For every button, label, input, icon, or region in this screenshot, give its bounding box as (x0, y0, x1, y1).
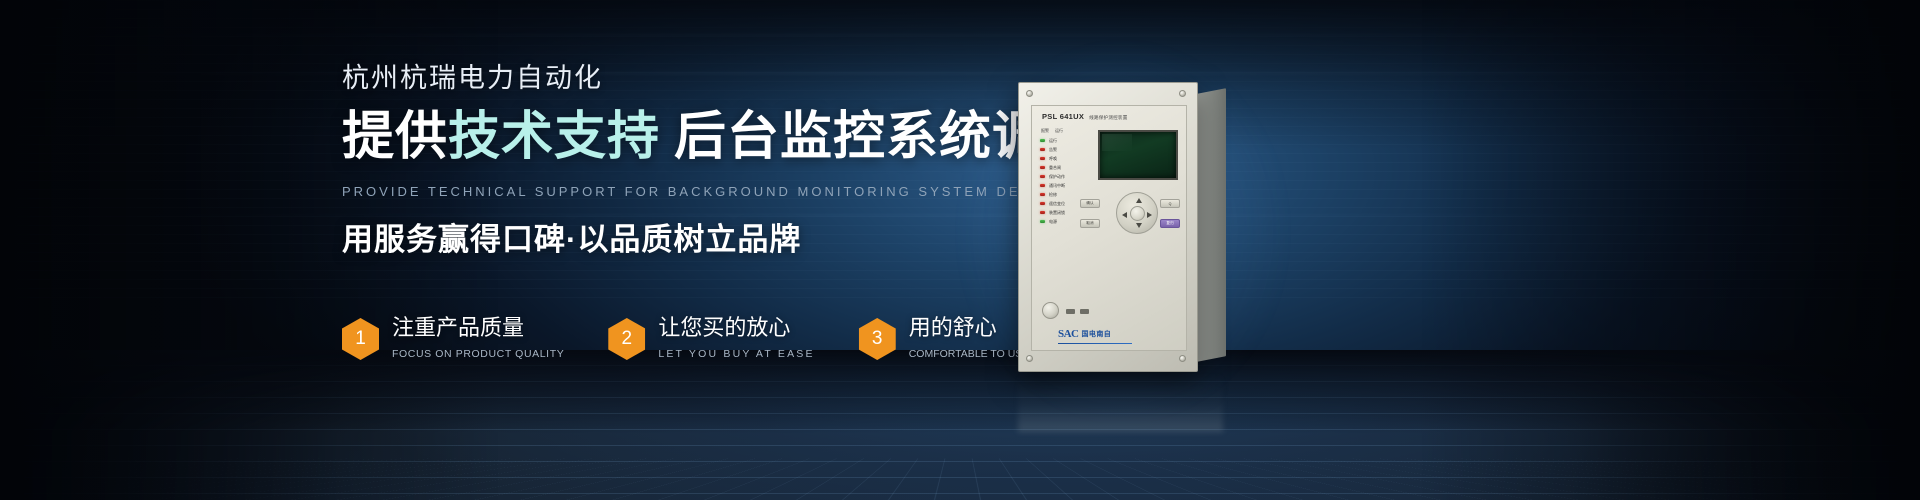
device-button-quit[interactable]: Q (1160, 199, 1180, 208)
device-port (1080, 309, 1089, 314)
headline-block: 杭州杭瑞电力自动化 提供技术支持后台监控系统调试 PROVIDE TECHNIC… (342, 62, 1002, 259)
device-button-cancel[interactable]: 取消 (1080, 219, 1100, 228)
led-label: 遥信变位 (1049, 202, 1065, 206)
brand-underline (1058, 343, 1132, 345)
screw-icon (1179, 355, 1186, 362)
hexagon-badge-2: 2 (608, 318, 645, 360)
led-label: 重合闸 (1049, 166, 1061, 170)
device-model-description: 线路保护测控装置 (1089, 115, 1127, 121)
led-indicator (1040, 193, 1045, 196)
led-label: 运行 (1049, 139, 1057, 143)
screw-icon (1026, 90, 1033, 97)
device-brand-logo: SAC 国电南自 (1058, 328, 1111, 340)
led-indicator (1040, 157, 1045, 160)
headline-part-2: 技术支持 (448, 108, 660, 166)
feature-list: 1 注重产品质量 FOCUS ON PRODUCT QUALITY 2 让您买的… (342, 316, 1029, 360)
led-indicator (1040, 139, 1045, 142)
feature-subtitle-1: FOCUS ON PRODUCT QUALITY (392, 348, 564, 360)
led-label: 检修 (1049, 193, 1057, 197)
slogan: 用服务赢得口碑·以品质树立品牌 (342, 214, 1002, 259)
headline-part-1: 提供 (342, 108, 448, 166)
led-indicator (1040, 211, 1045, 214)
feature-number-3: 3 (872, 329, 883, 349)
hexagon-badge-3: 3 (859, 318, 896, 360)
led-indicator (1040, 175, 1045, 178)
device-button-confirm[interactable]: 确认 (1080, 199, 1100, 208)
led-indicator (1040, 148, 1045, 151)
feature-title-2: 让您买的放心 (658, 316, 814, 340)
led-indicator (1040, 184, 1045, 187)
led-indicator (1040, 166, 1045, 169)
device-keypad: 确认 取消 Q 复归 (1098, 192, 1180, 250)
screw-icon (1026, 355, 1033, 362)
product-device-image: PSL 641UX 线路保护测控装置 报警 运行 运行 告警 呼唤 重合闸 保护… (1018, 82, 1223, 372)
device-knob[interactable] (1042, 302, 1059, 319)
device-reflection (1018, 372, 1223, 432)
device-front-panel: PSL 641UX 线路保护测控装置 报警 运行 运行 告警 呼唤 重合闸 保护… (1018, 82, 1198, 372)
device-model-number: PSL 641UX (1042, 112, 1084, 121)
device-button-reset[interactable]: 复归 (1160, 219, 1180, 228)
device-faceplate: PSL 641UX 线路保护测控装置 报警 运行 运行 告警 呼唤 重合闸 保护… (1031, 105, 1187, 351)
subtitle-english: PROVIDE TECHNICAL SUPPORT FOR BACKGROUND… (342, 184, 1002, 199)
feature-subtitle-2: LET YOU BUY AT EASE (658, 348, 814, 360)
led-label: 通讯中断 (1049, 184, 1065, 188)
feature-number-2: 2 (622, 329, 633, 349)
feature-title-1: 注重产品质量 (392, 316, 564, 340)
led-indicator (1040, 202, 1045, 205)
feature-item-1: 1 注重产品质量 FOCUS ON PRODUCT QUALITY (342, 316, 564, 360)
led-header-run: 运行 (1055, 128, 1063, 134)
device-model-label: PSL 641UX 线路保护测控装置 (1042, 112, 1182, 121)
screw-icon (1179, 90, 1186, 97)
device-lcd-screen (1098, 130, 1178, 180)
device-port (1066, 309, 1075, 314)
hero-banner: 杭州杭瑞电力自动化 提供技术支持后台监控系统调试 PROVIDE TECHNIC… (0, 0, 1920, 500)
device-led-panel: 报警 运行 运行 告警 呼唤 重合闸 保护动作 通讯中断 检修 遥信变位 装置闭… (1040, 128, 1092, 226)
brand-chinese-text: 国电南自 (1082, 329, 1112, 339)
led-indicator (1040, 220, 1045, 223)
led-label: 呼唤 (1049, 157, 1057, 161)
led-label: 装置闭锁 (1049, 211, 1065, 215)
device-port-row (1066, 309, 1089, 314)
led-label: 保护动作 (1049, 175, 1065, 179)
hexagon-badge-1: 1 (342, 318, 379, 360)
led-label: 告警 (1049, 148, 1057, 152)
company-name: 杭州杭瑞电力自动化 (342, 62, 1002, 94)
page-title: 提供技术支持后台监控系统调试 (342, 108, 1002, 166)
led-header-alarm: 报警 (1041, 128, 1049, 134)
feature-number-1: 1 (355, 329, 366, 349)
brand-mark-text: SAC (1058, 328, 1079, 340)
feature-item-2: 2 让您买的放心 LET YOU BUY AT EASE (608, 316, 814, 360)
led-label: 电源 (1049, 220, 1057, 224)
dpad-icon[interactable] (1116, 192, 1158, 234)
